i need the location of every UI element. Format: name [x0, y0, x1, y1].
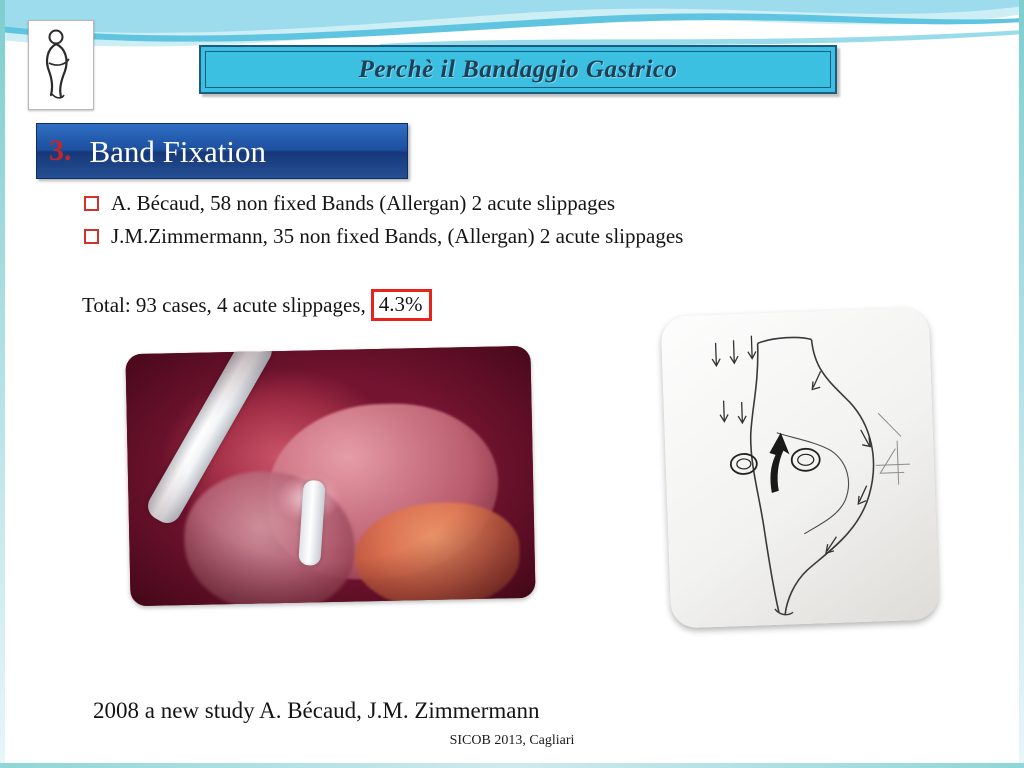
- square-bullet-icon: [82, 194, 100, 212]
- footer-conference: SICOB 2013, Cagliari: [0, 733, 1024, 749]
- schematic-drawing: [661, 307, 940, 628]
- section-heading-plaque: 3. Band Fixation: [36, 123, 408, 179]
- total-summary: Total: 93 cases, 4 acute slippages, 4.3%: [82, 289, 432, 321]
- bottom-edge-accent: [0, 763, 1024, 768]
- photo-vignette: [125, 346, 535, 606]
- laparoscopic-photo: [125, 346, 535, 606]
- bullet-text: J.M.Zimmermann, 35 non fixed Bands, (All…: [111, 223, 683, 249]
- total-text: Total: 93 cases, 4 acute slippages,: [82, 293, 366, 318]
- bullet-list: A. Bécaud, 58 non fixed Bands (Allergan)…: [82, 190, 962, 257]
- left-edge-accent: [0, 0, 5, 768]
- list-item: A. Bécaud, 58 non fixed Bands (Allergan)…: [82, 190, 962, 216]
- status-badge: 4.3%: [371, 289, 433, 321]
- right-edge-accent: [1019, 0, 1024, 768]
- logo-box: [28, 20, 94, 110]
- slide-canvas: Perchè il Bandaggio Gastrico 3. Band Fix…: [0, 0, 1024, 768]
- square-bullet-icon: [82, 227, 100, 245]
- section-heading-label: Band Fixation: [90, 136, 267, 167]
- section-number: 3.: [49, 136, 72, 166]
- clinic-logo-icon: [29, 21, 91, 107]
- list-item: J.M.Zimmermann, 35 non fixed Bands, (All…: [82, 223, 962, 249]
- page-title: Perchè il Bandaggio Gastrico: [359, 56, 678, 84]
- stomach-diagram-icon: [661, 307, 940, 628]
- footer-citation: 2008 a new study A. Bécaud, J.M. Zimmerm…: [93, 698, 540, 724]
- slide-title-bar: Perchè il Bandaggio Gastrico: [199, 45, 837, 94]
- bullet-text: A. Bécaud, 58 non fixed Bands (Allergan)…: [111, 190, 615, 216]
